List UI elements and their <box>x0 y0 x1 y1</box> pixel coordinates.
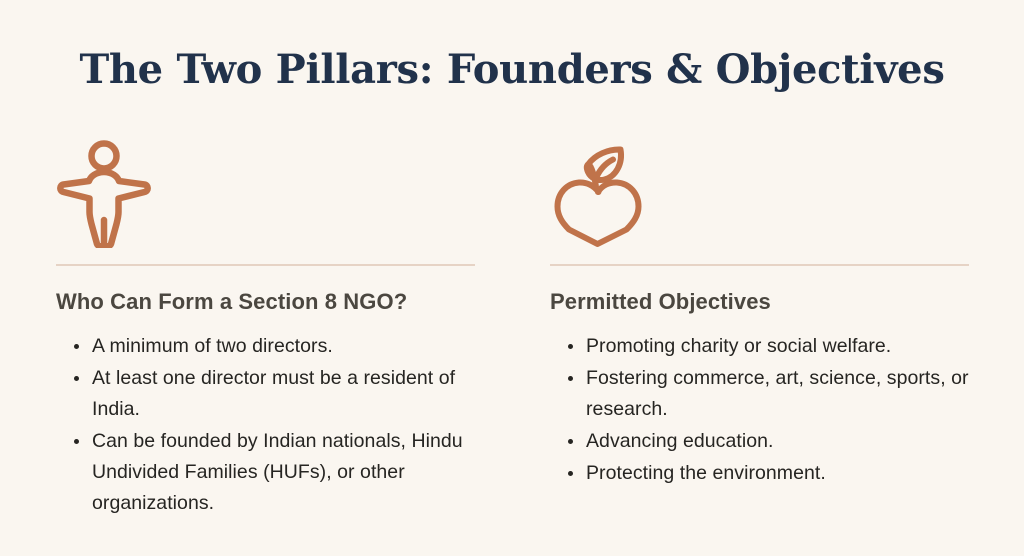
bullet-list-objectives: Promoting charity or social welfare. Fos… <box>550 331 969 490</box>
person-outstretched-arms-icon <box>56 140 475 250</box>
list-item: At least one director must be a resident… <box>92 363 475 425</box>
two-column-layout: Who Can Form a Section 8 NGO? A minimum … <box>56 140 968 520</box>
list-item: Promoting charity or social welfare. <box>586 331 969 362</box>
bullet-list-founders: A minimum of two directors. At least one… <box>56 331 475 520</box>
slide-canvas: The Two Pillars: Founders & Objectives W… <box>0 0 1024 556</box>
list-item: Can be founded by Indian nationals, Hind… <box>92 426 475 519</box>
section-heading-objectives: Permitted Objectives <box>550 289 969 315</box>
list-item: Protecting the environment. <box>586 458 969 489</box>
column-founders: Who Can Form a Section 8 NGO? A minimum … <box>56 140 475 520</box>
section-heading-founders: Who Can Form a Section 8 NGO? <box>56 289 475 315</box>
list-item: Advancing education. <box>586 426 969 457</box>
column-divider <box>56 264 475 266</box>
heart-with-leaf-icon <box>550 140 969 250</box>
column-divider <box>550 264 969 266</box>
list-item: Fostering commerce, art, science, sports… <box>586 363 969 425</box>
list-item: A minimum of two directors. <box>92 331 475 362</box>
page-title: The Two Pillars: Founders & Objectives <box>0 47 1024 93</box>
column-objectives: Permitted Objectives Promoting charity o… <box>550 140 969 520</box>
